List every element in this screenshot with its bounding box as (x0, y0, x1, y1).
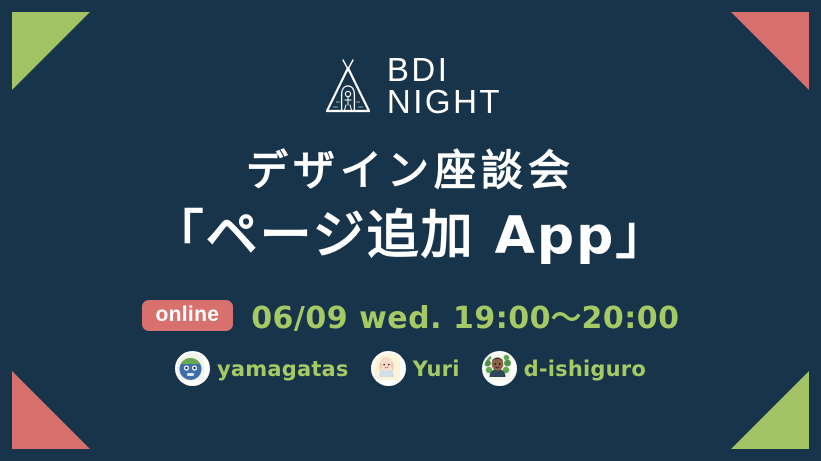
person-leaves-avatar-icon (482, 351, 517, 386)
poster-content: BDI NIGHT デザイン座談会 「ページ追加 App」 online 06/… (0, 0, 821, 461)
robot-avatar-icon (175, 351, 210, 386)
speaker-item: yamagatas (175, 351, 349, 386)
brand-logo-line-2: NIGHT (387, 86, 502, 118)
speaker-name: Yuri (413, 357, 460, 381)
speakers-row: yamagatas Yuri (175, 351, 646, 386)
brand-logo-text: BDI NIGHT (387, 54, 502, 119)
event-poster: BDI NIGHT デザイン座談会 「ページ追加 App」 online 06/… (0, 0, 821, 461)
speaker-name: d-ishiguro (524, 357, 646, 381)
speaker-item: d-ishiguro (482, 351, 646, 386)
event-datetime: 06/09 wed. 19:00〜20:00 (251, 293, 679, 337)
status-badge-online: online (142, 300, 234, 331)
schedule-row: online 06/09 wed. 19:00〜20:00 (142, 293, 680, 337)
brand-logo-line-1: BDI (387, 54, 502, 86)
speaker-item: Yuri (371, 351, 460, 386)
speaker-name: yamagatas (217, 357, 349, 381)
event-title-sub: 「ページ追加 App」 (152, 208, 670, 265)
brand-logo: BDI NIGHT (319, 55, 502, 117)
event-title-main: デザイン座談会 (246, 150, 575, 192)
teepee-tent-icon (319, 56, 377, 116)
woman-illustration-avatar-icon (371, 351, 406, 386)
